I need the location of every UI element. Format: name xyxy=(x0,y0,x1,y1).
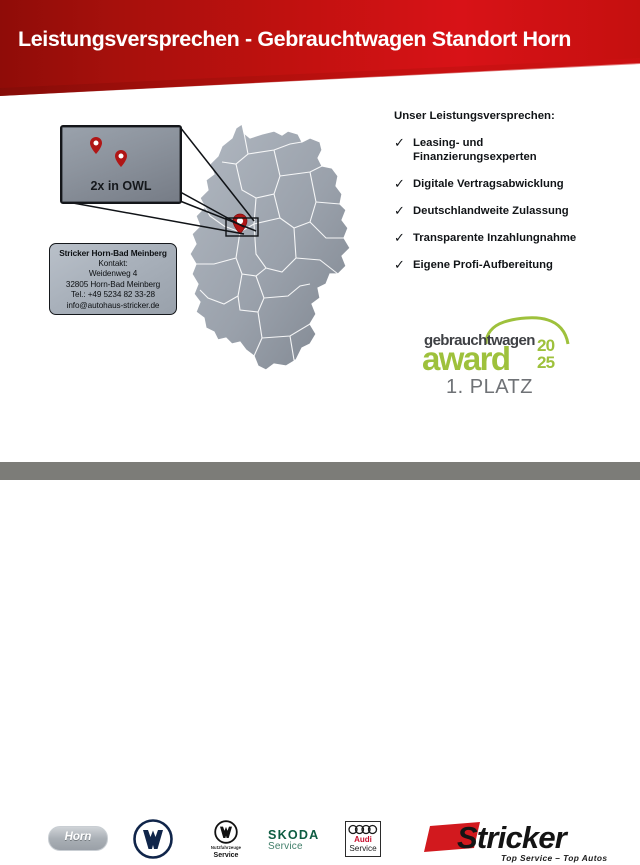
check-icon: ✓ xyxy=(394,258,413,271)
audi-name-label: Audi xyxy=(346,836,380,844)
check-icon: ✓ xyxy=(394,204,413,217)
audi-rings-icon xyxy=(348,824,378,835)
location-pin-icon xyxy=(90,137,102,154)
check-icon: ✓ xyxy=(394,177,413,190)
dealer-email[interactable]: info@autohaus-stricker.de xyxy=(50,301,176,312)
dealer-city: 32805 Horn-Bad Meinberg xyxy=(50,280,176,291)
promise-list: Unser Leistungsversprechen: ✓ Leasing- u… xyxy=(394,110,634,285)
dealer-contact-label: Kontakt: xyxy=(50,259,176,270)
award-year-bottom: 25 xyxy=(537,355,554,372)
volkswagen-nutzfahrzeuge-logo: Nutzfahrzeuge Service xyxy=(203,820,249,859)
promise-item-label: Digitale Vertragsabwicklung xyxy=(413,177,564,191)
stricker-wordmark: Stricker xyxy=(457,820,566,856)
skoda-logo: SKODA Service xyxy=(268,828,319,852)
promise-heading: Unser Leistungsversprechen: xyxy=(394,110,634,122)
promise-item: ✓ Deutschlandweite Zulassung xyxy=(394,204,634,218)
dealer-street: Weidenweg 4 xyxy=(50,269,176,280)
dealer-address-box: Stricker Horn-Bad Meinberg Kontakt: Weid… xyxy=(49,243,177,315)
header-banner: Leistungsversprechen - Gebrauchtwagen St… xyxy=(0,0,640,100)
vw-nutzfahrzeuge-label: Nutzfahrzeuge xyxy=(203,845,249,850)
promise-item-label: Deutschlandweite Zulassung xyxy=(413,204,569,218)
check-icon: ✓ xyxy=(394,136,413,149)
horn-badge: Horn xyxy=(48,826,108,851)
promise-item-label: Eigene Profi-Aufbereitung xyxy=(413,258,553,272)
germany-map-icon xyxy=(170,98,380,398)
location-pin-icon xyxy=(115,150,127,167)
audi-service-logo: Audi Service xyxy=(345,821,381,857)
footer-bar xyxy=(0,462,640,480)
volkswagen-logo-icon xyxy=(214,820,238,844)
slide-root: Leistungsversprechen - Gebrauchtwagen St… xyxy=(0,0,640,480)
skoda-name-label: SKODA xyxy=(268,828,319,842)
page-title: Leistungsversprechen - Gebrauchtwagen St… xyxy=(18,27,628,52)
audi-service-label: Service xyxy=(346,844,380,853)
award-year: 20 25 xyxy=(537,338,554,371)
owl-callout-label: 2x in OWL xyxy=(62,179,180,193)
stricker-logo: Stricker Top Service – Top Autos xyxy=(424,813,614,865)
promise-item-label: Transparente Inzahlungnahme xyxy=(413,231,576,245)
promise-item: ✓ Transparente Inzahlungnahme xyxy=(394,231,634,245)
promise-item: ✓ Leasing- undFinanzierungsexperten xyxy=(394,136,634,164)
stricker-tagline: Top Service – Top Autos xyxy=(501,853,607,863)
horn-badge-label: Horn xyxy=(49,831,107,843)
promise-item: ✓ Eigene Profi-Aufbereitung xyxy=(394,258,634,272)
dealer-name: Stricker Horn-Bad Meinberg xyxy=(50,248,176,259)
award-badge: gebrauchtwagen award 20 25 1. PLATZ xyxy=(424,312,584,396)
volkswagen-logo-icon xyxy=(133,819,173,859)
owl-callout-box: 2x in OWL xyxy=(60,125,182,204)
promise-item-label: Leasing- undFinanzierungsexperten xyxy=(413,136,537,164)
vw-service-label: Service xyxy=(203,852,249,859)
germany-map xyxy=(170,98,380,398)
skoda-service-label: Service xyxy=(268,841,319,852)
brand-logo-strip: Horn Nutzfahrzeuge Service SKODA Service xyxy=(0,405,640,463)
award-word: award xyxy=(422,342,509,375)
map-country-shape xyxy=(190,124,350,370)
promise-item: ✓ Digitale Vertragsabwicklung xyxy=(394,177,634,191)
dealer-phone: Tel.: +49 5234 82 33-28 xyxy=(50,290,176,301)
award-place: 1. PLATZ xyxy=(446,376,533,399)
check-icon: ✓ xyxy=(394,231,413,244)
